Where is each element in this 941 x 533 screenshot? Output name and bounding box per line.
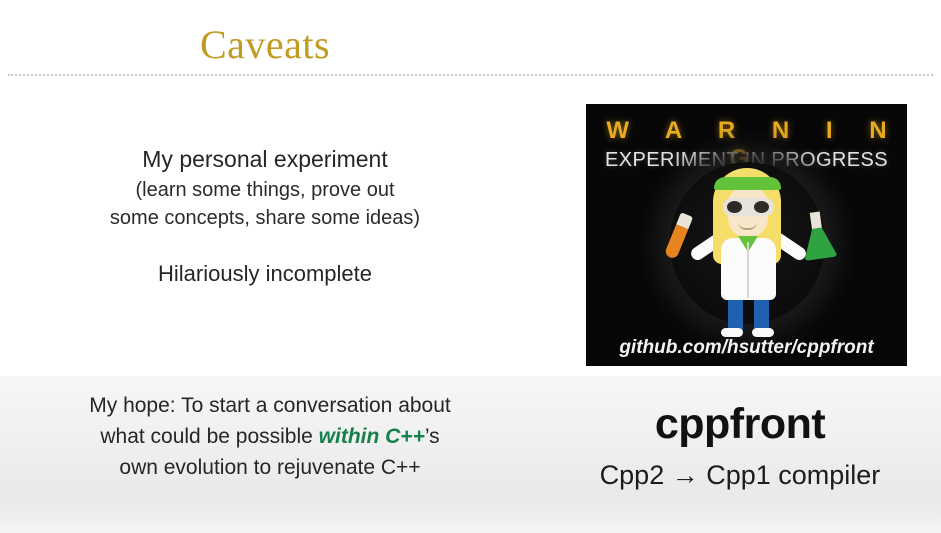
lab-coat-seam xyxy=(747,242,749,298)
scientist-left-shoe xyxy=(721,328,743,337)
slide-canvas: Caveats My personal experiment (learn so… xyxy=(0,0,941,533)
project-name: cppfront xyxy=(545,398,935,450)
left-body-text: My personal experiment (learn some thing… xyxy=(30,143,500,290)
hope-line-1: My hope: To start a conversation about xyxy=(20,390,520,421)
scientist-right-leg xyxy=(754,296,769,332)
scientist-headband xyxy=(714,177,781,190)
hope-line-2-emphasis: within C++ xyxy=(319,425,425,448)
flask-body xyxy=(800,226,838,261)
hope-line-2: what could be possible within C++’s xyxy=(20,421,520,452)
page-title: Caveats xyxy=(0,22,530,68)
hope-statement: My hope: To start a conversation about w… xyxy=(20,390,520,483)
hope-line-3: own evolution to rejuvenate C++ xyxy=(20,452,520,483)
body-spacer xyxy=(30,232,500,258)
warning-experiment-image: W A R N I N G EXPERIMENT IN PROGRESS xyxy=(586,104,907,366)
goggles-icon xyxy=(723,198,774,216)
scientist-left-leg xyxy=(728,296,743,332)
title-divider xyxy=(8,74,933,76)
cppfront-callout: cppfront Cpp2 → Cpp1 compiler xyxy=(545,398,935,492)
goggles-lens-right xyxy=(754,201,769,213)
hope-line-2-suffix: ’s xyxy=(425,425,440,448)
cartoon-scientist-illustration xyxy=(586,164,907,344)
body-lead-line: My personal experiment xyxy=(30,143,500,176)
goggles-lens-left xyxy=(727,201,742,213)
body-paren-line-1: (learn some things, prove out xyxy=(30,176,500,204)
scientist-right-shoe xyxy=(752,328,774,337)
body-paren-line-2: some concepts, share some ideas) xyxy=(30,204,500,232)
body-emphasis-line: Hilariously incomplete xyxy=(30,258,500,290)
project-description: Cpp2 → Cpp1 compiler xyxy=(545,458,935,492)
hope-line-2-prefix: what could be possible xyxy=(100,425,318,448)
repository-url-label: github.com/hsutter/cppfront xyxy=(586,337,907,359)
